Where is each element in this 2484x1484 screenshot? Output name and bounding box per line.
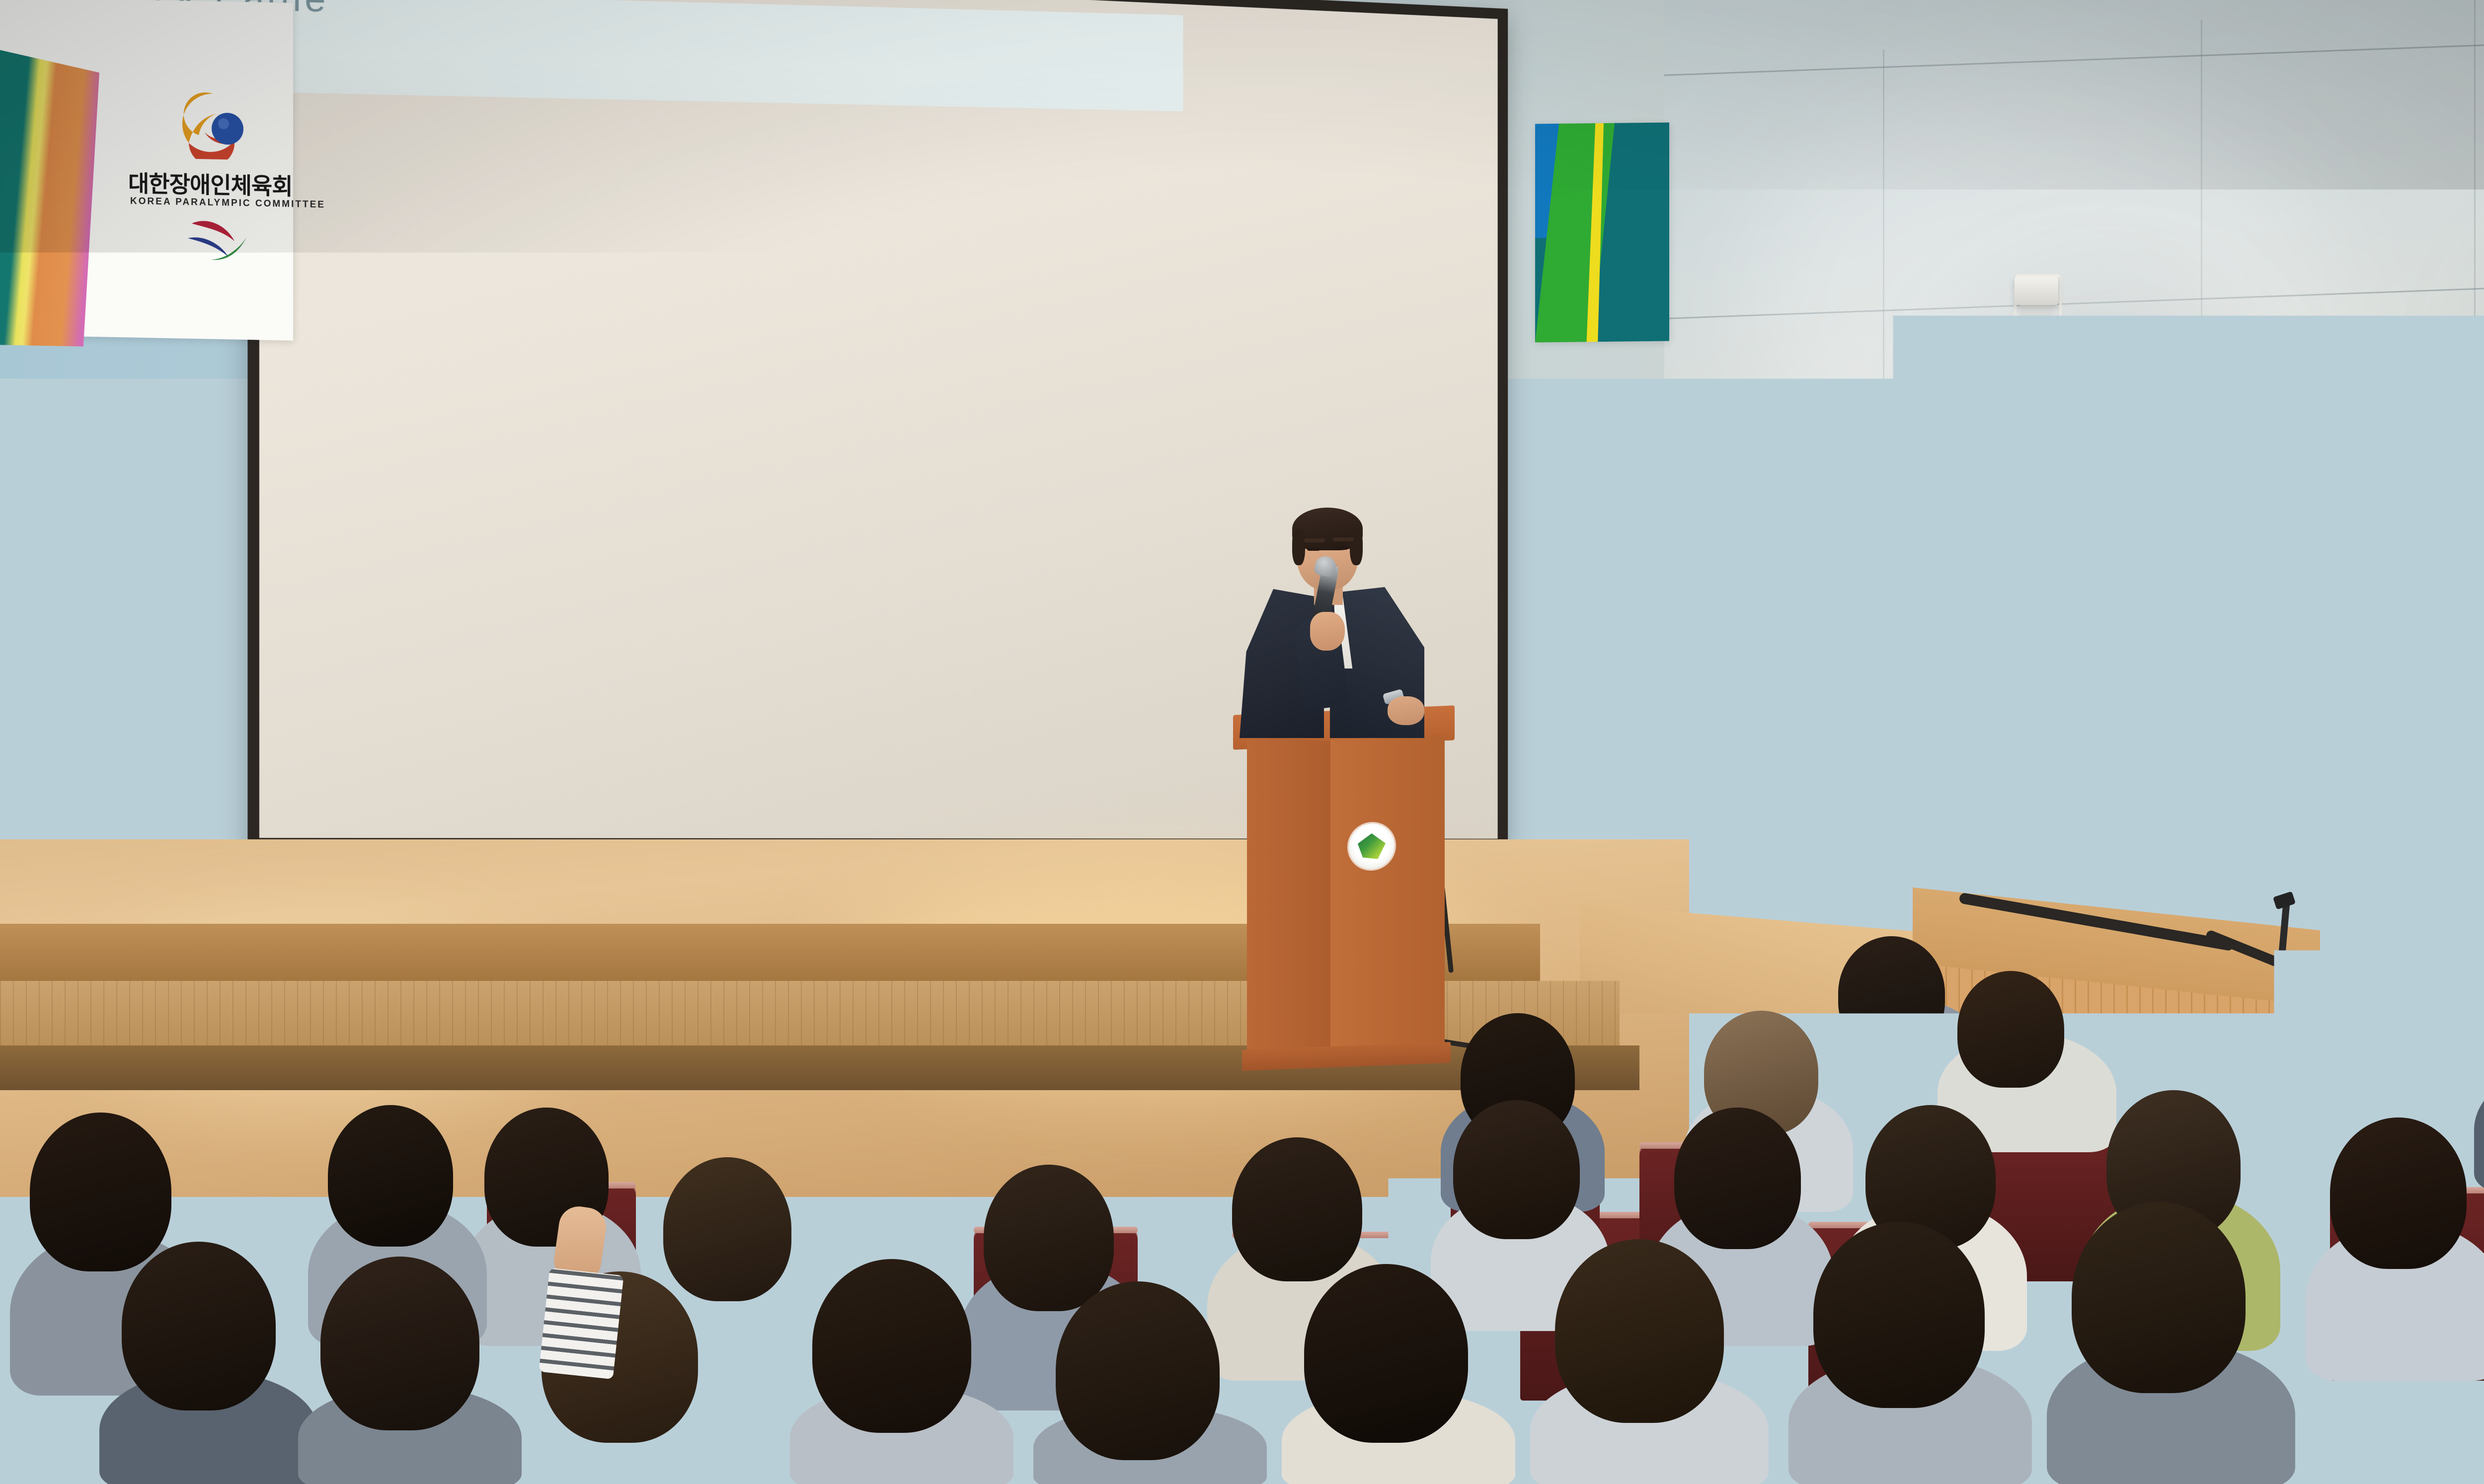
sconce-glass [2020,303,2052,339]
tile-grout-line [2201,20,2202,680]
eyebrow [1333,537,1354,541]
audience-head [812,1259,971,1433]
banner-ribbon-graphic [0,47,99,347]
auditorium-photo-scene: Black Eagle 대한민국 공군 대한장애인체육회 KOREA PARAL… [0,0,2484,1484]
wall-sconce-light [2015,276,2058,305]
audience-head [2305,956,2417,1078]
audience-head [1304,1264,1468,1443]
power-outlet-plate[interactable] [1905,765,1930,811]
eye [1335,546,1348,550]
korea-paralympic-committee-banner: 대한장애인체육회 KOREA PARALYMPIC COMMITTEE [0,0,293,341]
podium-side-panel [1247,737,1330,1059]
stone-tile-wall [1664,0,2484,695]
audience-head [122,1242,276,1410]
taegeuk-government-logo-icon [178,89,247,160]
audience-head [1555,1239,1724,1423]
tile-grout-line [2474,0,2476,685]
wainscot-seam [2265,685,2267,964]
audience-head [984,1165,1114,1311]
audience-head [1453,1100,1580,1239]
audience-head [320,1257,479,1430]
paralympic-agitos-icon [183,214,262,265]
audience-head [2072,1202,2246,1393]
audience-head [1056,1281,1220,1460]
audience-head [663,1157,791,1301]
audience-head [1674,1108,1801,1249]
hair-side [1292,528,1305,565]
hair-side [1350,528,1363,565]
podium [1242,710,1446,1078]
green-blue-ribbon-banner [1535,123,1669,343]
eye [1307,547,1320,551]
hand-on-podium [1388,696,1424,725]
audience-head [328,1105,453,1247]
audience-head [1232,1137,1362,1281]
hand-holding-microphone [1310,612,1345,651]
audience-head [30,1113,171,1271]
presenter-at-podium [1220,502,1428,735]
seal-inner-graphic [1358,833,1386,860]
podium-front-panel [1330,735,1445,1061]
checkered-shirt-sleeve [539,1268,623,1380]
tile-grout-line [1883,50,1884,685]
audience-head [1813,1222,1985,1408]
audience-head [1838,936,1945,1050]
audience-head [1957,971,2064,1088]
eyebrow [1304,538,1325,542]
switch-plate[interactable] [1938,770,1961,815]
